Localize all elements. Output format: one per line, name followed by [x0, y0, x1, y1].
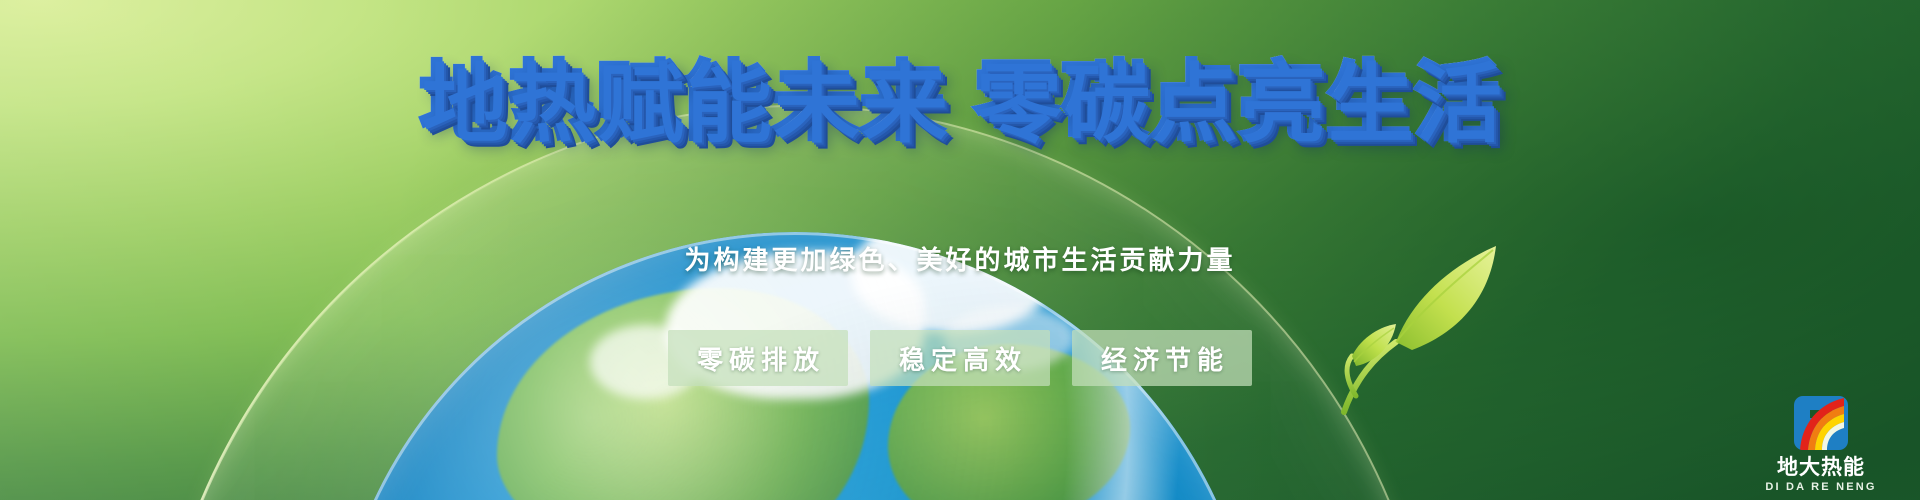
banner-content: 地热赋能未来 零碳点亮生活 为构建更加绿色、美好的城市生活贡献力量 零碳排放 稳…: [0, 0, 1920, 500]
feature-tag-stable-efficient[interactable]: 稳定高效: [870, 330, 1050, 386]
feature-tag-economic-saving[interactable]: 经济节能: [1072, 330, 1252, 386]
promo-banner: 地热赋能未来 零碳点亮生活 为构建更加绿色、美好的城市生活贡献力量 零碳排放 稳…: [0, 0, 1920, 500]
didareneng-logo-mark-icon: [1792, 394, 1850, 452]
feature-tag-list: 零碳排放 稳定高效 经济节能: [0, 330, 1920, 386]
banner-title-text: 地热赋能未来 零碳点亮生活: [419, 54, 1501, 150]
banner-subtitle: 为构建更加绿色、美好的城市生活贡献力量: [0, 240, 1920, 277]
banner-title: 地热赋能未来 零碳点亮生活: [0, 52, 1920, 152]
feature-tag-zero-carbon[interactable]: 零碳排放: [668, 330, 848, 386]
brand-name-en: DI DA RE NENG: [1758, 480, 1884, 494]
brand-name-cn: 地大热能: [1758, 456, 1884, 480]
brand-logo[interactable]: 地大热能 DI DA RE NENG: [1758, 394, 1884, 494]
